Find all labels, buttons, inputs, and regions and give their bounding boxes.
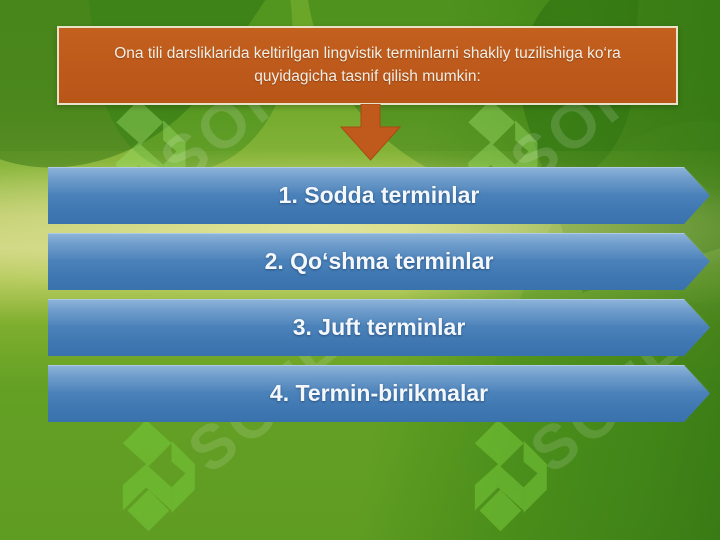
banner-label: 4. Termin-birikmalar xyxy=(270,380,488,407)
banner-label: 3. Juft terminlar xyxy=(293,314,466,341)
process-banner[interactable]: 2. Qo‘shma terminlar xyxy=(48,233,710,290)
banner-label: 2. Qo‘shma terminlar xyxy=(265,248,494,275)
header-line-1: Ona tili darsliklarida keltirilgan lingv… xyxy=(114,45,621,62)
process-banner[interactable]: 1. Sodda terminlar xyxy=(48,167,710,224)
header-line-2: quyidagicha tasnif qilish mumkin: xyxy=(254,68,481,85)
down-arrow-icon xyxy=(339,104,402,161)
header-text-block: Ona tili darsliklarida keltirilgan lingv… xyxy=(98,43,637,88)
header-banner: Ona tili darsliklarida keltirilgan lingv… xyxy=(57,26,678,105)
banner-label: 1. Sodda terminlar xyxy=(279,182,480,209)
presentation-slide: SOFF SOFF SOFF SOFF Ona tili darsliklari… xyxy=(0,0,720,540)
process-banner[interactable]: 4. Termin-birikmalar xyxy=(48,365,710,422)
process-banner[interactable]: 3. Juft terminlar xyxy=(48,299,710,356)
